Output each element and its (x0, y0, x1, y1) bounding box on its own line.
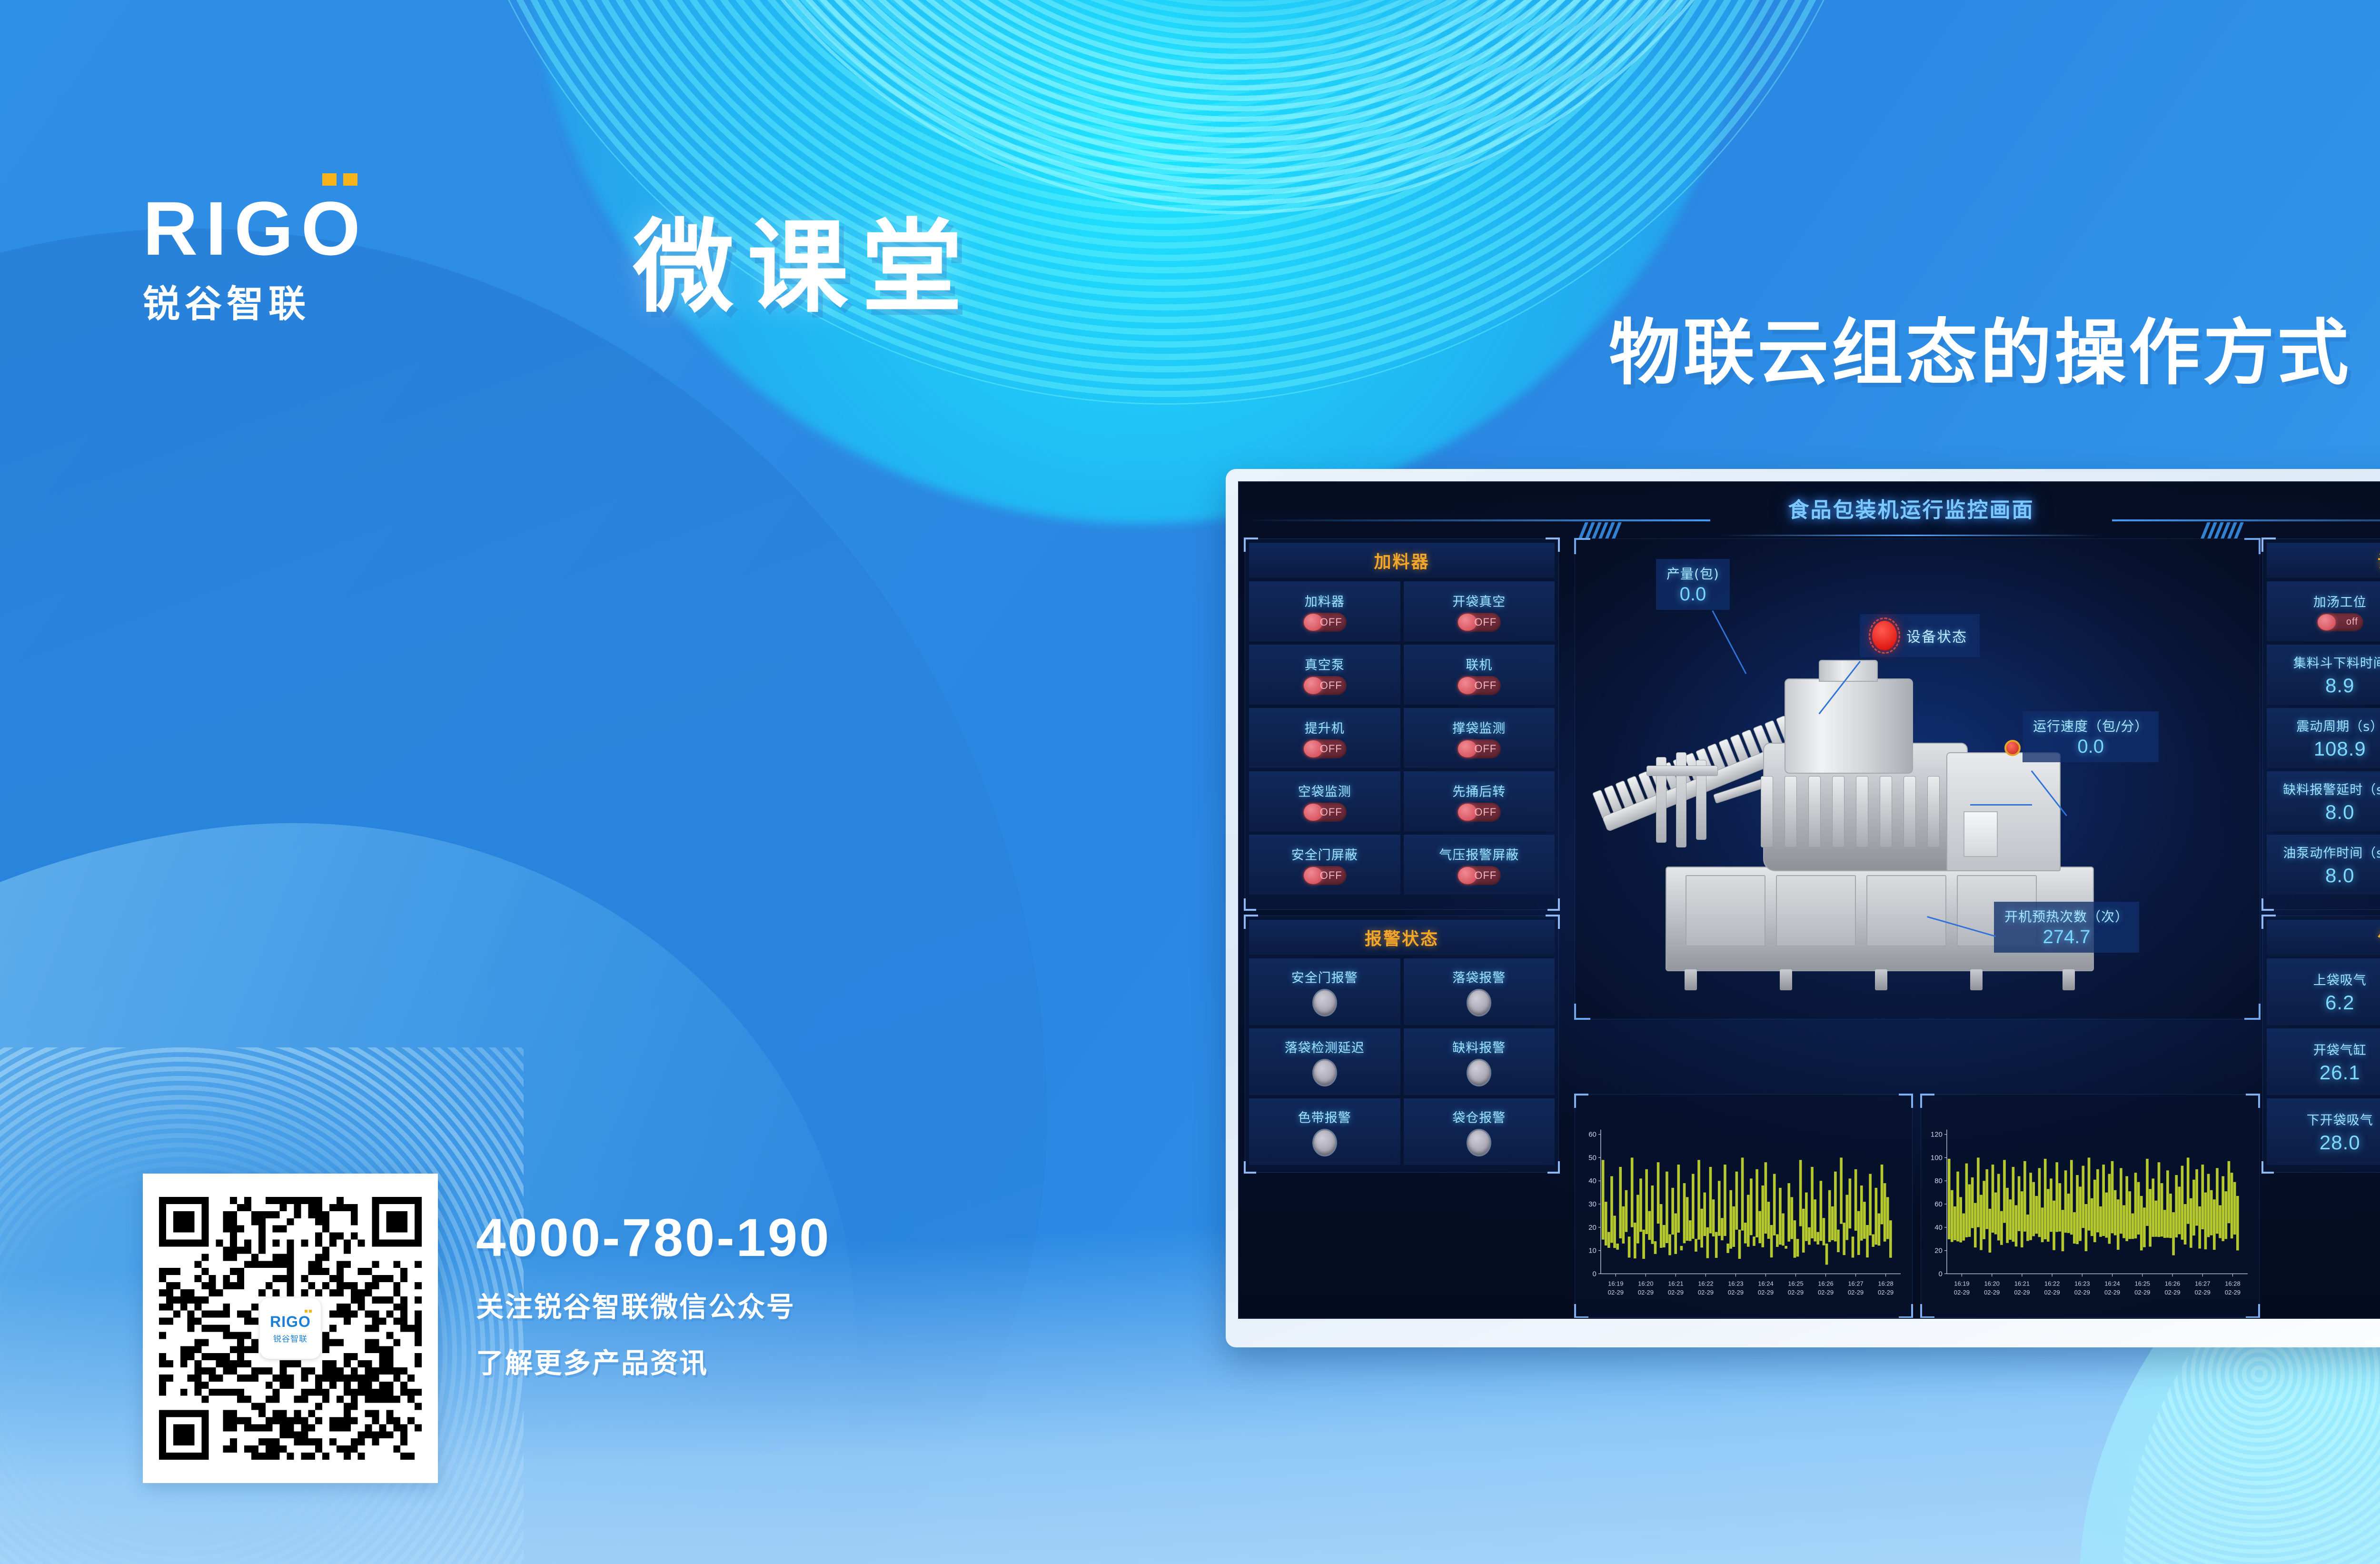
device-value-0: 8.9 (2325, 674, 2354, 697)
alarm-cell-4[interactable]: 色带报警 (1249, 1098, 1400, 1165)
svg-text:16:26: 16:26 (2165, 1280, 2180, 1287)
svg-text:02-29: 02-29 (1638, 1289, 1654, 1296)
svg-text:02-29: 02-29 (1788, 1289, 1804, 1296)
device-params-panel: 设备参数 加汤工位 off 停机点 off 集料斗下料时间 8.9 集料斗输出时… (2262, 538, 2380, 910)
alarm-label-3: 缺料报警 (1452, 1037, 1506, 1056)
alarm-cell-0[interactable]: 安全门报警 (1249, 958, 1400, 1025)
cylinder-params-grid: 上袋吸气 6.2 上袋气缸 93.9 开袋气缸 26.1 上开袋吸气 0.0 下… (2263, 955, 2380, 1169)
screen-header: 食品包装机运行监控画面 (1239, 482, 2380, 534)
cylinder-value-4: 28.0 (2320, 1131, 2360, 1154)
cylinder-params-panel: 气缸参数 上袋吸气 6.2 上袋气缸 93.9 开袋气缸 26.1 上开袋吸气 … (2262, 916, 2380, 1173)
svg-text:50: 50 (1588, 1154, 1597, 1162)
alarm-panel: 报警状态 安全门报警 落袋报警 落袋检测延迟 缺料报警 (1245, 916, 1559, 1173)
svg-text:02-29: 02-29 (2225, 1289, 2241, 1296)
svg-text:02-29: 02-29 (1984, 1289, 2000, 1296)
feeder-cell-7[interactable]: 先捅后转 OFF (1404, 771, 1555, 831)
header-underline (1720, 535, 2102, 536)
device-value-label-2: 震动周期（s） (2296, 716, 2380, 735)
feeder-toggle-state-6: OFF (1320, 806, 1342, 818)
svg-text:02-29: 02-29 (1668, 1289, 1684, 1296)
svg-text:02-29: 02-29 (1954, 1289, 1970, 1296)
cylinder-value-0: 6.2 (2325, 991, 2354, 1014)
device-value-4: 8.0 (2325, 801, 2354, 824)
rigo-wordmark: RIGO (143, 190, 368, 267)
svg-text:40: 40 (1588, 1177, 1597, 1185)
cylinder-cell-0[interactable]: 上袋吸气 6.2 (2267, 958, 2380, 1025)
trend-chart-left[interactable]: 010203040506016:1902-2916:2002-2916:2102… (1575, 1094, 1913, 1318)
rigo-logo: RIGO (143, 190, 368, 267)
alarm-cell-5[interactable]: 袋仓报警 (1404, 1098, 1555, 1165)
rigo-chinese-name: 锐谷智联 (143, 274, 368, 328)
trend-chart-right[interactable]: 02040608010012016:1902-2916:2002-2916:21… (1921, 1094, 2260, 1318)
svg-text:100: 100 (1931, 1154, 1943, 1162)
alarm-cell-1[interactable]: 落袋报警 (1404, 958, 1555, 1025)
feeder-label-5: 撑袋监测 (1452, 718, 1506, 737)
alarm-cell-3[interactable]: 缺料报警 (1404, 1028, 1555, 1095)
svg-text:02-29: 02-29 (1758, 1289, 1774, 1296)
svg-text:02-29: 02-29 (2074, 1289, 2090, 1296)
svg-text:16:23: 16:23 (1728, 1280, 1743, 1287)
feeder-toggle-state-0: OFF (1320, 616, 1342, 628)
svg-text:16:19: 16:19 (1954, 1280, 1969, 1287)
svg-text:02-29: 02-29 (2014, 1289, 2030, 1296)
wechat-qr-code[interactable]: RIGO 锐谷智联 (143, 1174, 438, 1483)
contact-block: RIGO 锐谷智联 4000-780-190 关注锐谷智联微信公众号 了解更多产… (143, 1174, 831, 1483)
feeder-label-3: 联机 (1466, 655, 1492, 673)
device-toggle-0[interactable]: off (2317, 613, 2363, 631)
svg-text:02-29: 02-29 (1608, 1289, 1624, 1296)
svg-text:16:23: 16:23 (2074, 1280, 2090, 1287)
svg-text:20: 20 (1588, 1224, 1597, 1232)
feeder-label-6: 空袋监测 (1298, 781, 1351, 800)
svg-text:0: 0 (1593, 1270, 1597, 1278)
machine-hmi-screen (1963, 811, 1998, 857)
svg-text:02-29: 02-29 (2044, 1289, 2060, 1296)
svg-text:16:25: 16:25 (2135, 1280, 2150, 1287)
machine-legs (1685, 969, 2075, 990)
alarm-lamp-2 (1312, 1059, 1337, 1086)
qr-logo-latin: RIGO (270, 1313, 311, 1331)
toggle-knob (2318, 614, 2336, 630)
svg-text:02-29: 02-29 (1728, 1289, 1744, 1296)
device-value-label-4: 缺料报警延时（s） (2283, 779, 2380, 798)
machine-feeder-arm (1646, 724, 1775, 847)
device-value-6: 8.0 (2325, 864, 2354, 887)
feeder-toggle-state-3: OFF (1474, 679, 1497, 692)
feeder-label-1: 开袋真空 (1452, 591, 1506, 610)
center-display-panel: 产量(包) 0.0 设备状态 运行速度（包/分） 0.0 开机预热次数（次） 2… (1575, 538, 2260, 1019)
alarm-label-5: 袋仓报警 (1452, 1107, 1506, 1126)
hmi-monitor-bezel: 食品包装机运行监控画面 加料器 加料器 OFF 开袋真空 OFF 真 (1226, 469, 2380, 1347)
alarm-lamp-5 (1467, 1129, 1491, 1156)
cylinder-label-4: 下开袋吸气 (2307, 1110, 2373, 1128)
device-value-cell-4[interactable]: 缺料报警延时（s） 8.0 (2267, 771, 2380, 831)
speed-label: 运行速度（包/分） (2033, 716, 2148, 735)
feeder-toggle-state-2: OFF (1320, 679, 1342, 692)
svg-text:60: 60 (1934, 1200, 1943, 1208)
alarm-grid: 安全门报警 落袋报警 落袋检测延迟 缺料报警 色带报警 (1245, 955, 1558, 1169)
contact-line-1: 关注锐谷智联微信公众号 (476, 1285, 831, 1325)
feeder-cell-9[interactable]: 气压报警屏蔽 OFF (1404, 835, 1555, 895)
svg-text:60: 60 (1588, 1131, 1597, 1139)
feeder-toggle-state-5: OFF (1474, 743, 1497, 755)
qr-center-logo: RIGO 锐谷智联 (260, 1298, 321, 1359)
alarm-label-4: 色带报警 (1298, 1107, 1351, 1126)
svg-text:0: 0 (1939, 1270, 1943, 1278)
device-value-label-0: 集料斗下料时间 (2293, 653, 2380, 671)
feeder-panel-title: 加料器 (1249, 543, 1555, 578)
feeder-label-9: 气压报警屏蔽 (1439, 845, 1519, 863)
svg-text:16:25: 16:25 (1788, 1280, 1803, 1287)
feeder-cell-3[interactable]: 联机 OFF (1404, 645, 1555, 705)
svg-text:16:22: 16:22 (1698, 1280, 1713, 1287)
speed-callout: 运行速度（包/分） 0.0 (2023, 711, 2159, 762)
preheat-value: 274.7 (2004, 926, 2129, 948)
qr-logo-cn: 锐谷智联 (273, 1332, 307, 1344)
cylinder-cell-2[interactable]: 开袋气缸 26.1 (2267, 1028, 2380, 1095)
feeder-toggle-0[interactable]: OFF (1303, 613, 1347, 632)
svg-text:02-29: 02-29 (1848, 1289, 1864, 1296)
svg-text:30: 30 (1588, 1200, 1597, 1208)
device-toggle-label-0: 加汤工位 (2313, 592, 2367, 610)
machine-control-cabinet (1946, 752, 2061, 871)
page-title: 物联云组态的操作方式 (1609, 295, 2351, 398)
feeder-label-0: 加料器 (1305, 591, 1345, 610)
screen-title: 食品包装机运行监控画面 (1239, 493, 2380, 523)
svg-text:02-29: 02-29 (2195, 1289, 2211, 1296)
feeder-toggle-2[interactable]: OFF (1303, 676, 1347, 695)
svg-text:16:19: 16:19 (1608, 1280, 1623, 1287)
alarm-label-1: 落袋报警 (1452, 967, 1506, 986)
svg-text:16:22: 16:22 (2044, 1280, 2060, 1287)
alarm-label-2: 落袋检测延迟 (1285, 1037, 1365, 1056)
alarm-panel-title: 报警状态 (1249, 920, 1555, 955)
svg-text:16:27: 16:27 (2195, 1280, 2210, 1287)
device-toggle-cell-0[interactable]: 加汤工位 off (2267, 581, 2380, 641)
svg-text:16:20: 16:20 (1638, 1280, 1653, 1287)
svg-text:16:21: 16:21 (1668, 1280, 1683, 1287)
feeder-toggle-state-7: OFF (1474, 806, 1497, 818)
brand-block: RIGO 锐谷智联 微课堂 (143, 190, 368, 328)
feeder-cell-6[interactable]: 空袋监测 OFF (1249, 771, 1400, 831)
emergency-stop-icon (2004, 740, 2021, 756)
umlaut-icon (322, 173, 357, 186)
feeder-toggle-state-8: OFF (1320, 869, 1342, 882)
contact-text: 4000-780-190 关注锐谷智联微信公众号 了解更多产品资讯 (476, 1174, 831, 1381)
feeder-toggle-6[interactable]: OFF (1303, 803, 1347, 822)
speed-value: 0.0 (2033, 736, 2148, 757)
svg-text:02-29: 02-29 (2164, 1289, 2180, 1296)
feeder-panel: 加料器 加料器 OFF 开袋真空 OFF 真空泵 OFF 联机 OFF (1245, 538, 1559, 910)
feeder-grid: 加料器 OFF 开袋真空 OFF 真空泵 OFF 联机 OFF 提升机 OF (1245, 578, 1558, 898)
svg-text:02-29: 02-29 (2104, 1289, 2120, 1296)
feeder-toggle-8[interactable]: OFF (1303, 866, 1347, 885)
feeder-cell-4[interactable]: 提升机 OFF (1249, 708, 1400, 768)
device-params-grid: 加汤工位 off 停机点 off 集料斗下料时间 8.9 集料斗输出时间 40.… (2263, 578, 2380, 898)
series-title: 微课堂 (633, 186, 976, 332)
svg-text:16:21: 16:21 (2014, 1280, 2030, 1287)
cylinder-label-0: 上袋吸气 (2313, 970, 2367, 988)
feeder-cell-2[interactable]: 真空泵 OFF (1249, 645, 1400, 705)
feeder-toggle-3[interactable]: OFF (1457, 676, 1501, 695)
device-value-cell-0[interactable]: 集料斗下料时间 8.9 (2267, 645, 2380, 705)
machine-grippers (1761, 767, 1970, 847)
svg-text:16:26: 16:26 (1818, 1280, 1833, 1287)
hotline-number: 4000-780-190 (476, 1207, 831, 1268)
device-value-cell-6[interactable]: 油泵动作时间（s） 8.0 (2267, 835, 2380, 895)
svg-text:02-29: 02-29 (1698, 1289, 1714, 1296)
svg-text:20: 20 (1934, 1247, 1943, 1255)
device-value-label-6: 油泵动作时间（s） (2283, 843, 2380, 861)
speed-leader-line-b (1970, 804, 2032, 806)
feeder-cell-5[interactable]: 撑袋监测 OFF (1404, 708, 1555, 768)
feeder-toggle-state-4: OFF (1320, 743, 1342, 755)
feeder-label-4: 提升机 (1305, 718, 1345, 737)
output-callout: 产量(包) 0.0 (1656, 559, 1730, 610)
device-status-indicator-icon (1872, 621, 1897, 650)
alarm-cell-2[interactable]: 落袋检测延迟 (1249, 1028, 1400, 1095)
svg-text:02-29: 02-29 (1818, 1289, 1834, 1296)
trend-left-svg: 010203040506016:1902-2916:2002-2916:2102… (1575, 1095, 1912, 1317)
feeder-toggle-state-1: OFF (1474, 616, 1497, 628)
alarm-label-0: 安全门报警 (1291, 967, 1358, 986)
alarm-lamp-4 (1312, 1129, 1337, 1156)
svg-text:16:28: 16:28 (2225, 1280, 2240, 1287)
cylinder-cell-4[interactable]: 下开袋吸气 28.0 (2267, 1098, 2380, 1165)
device-status-callout: 设备状态 (1860, 614, 1980, 657)
svg-text:40: 40 (1934, 1224, 1943, 1232)
feeder-cell-0[interactable]: 加料器 OFF (1249, 581, 1400, 641)
svg-text:16:24: 16:24 (2104, 1280, 2120, 1287)
header-slash-right-icon (2204, 522, 2241, 538)
feeder-label-7: 先捅后转 (1452, 781, 1506, 800)
svg-text:10: 10 (1588, 1247, 1597, 1255)
svg-text:120: 120 (1931, 1131, 1943, 1139)
feeder-toggle-7[interactable]: OFF (1457, 803, 1501, 822)
feeder-label-8: 安全门屏蔽 (1291, 845, 1358, 863)
cylinder-params-title: 气缸参数 (2267, 920, 2380, 955)
svg-text:16:28: 16:28 (1878, 1280, 1893, 1287)
preheat-callout: 开机预热次数（次） 274.7 (1994, 902, 2139, 953)
preheat-label: 开机预热次数（次） (2004, 907, 2129, 926)
machine-drum (1785, 678, 1913, 774)
device-params-title: 设备参数 (2267, 543, 2380, 578)
feeder-cell-1[interactable]: 开袋真空 OFF (1404, 581, 1555, 641)
svg-text:02-29: 02-29 (1878, 1289, 1894, 1296)
header-line-left (1253, 519, 1710, 521)
feeder-label-2: 真空泵 (1305, 655, 1345, 673)
feeder-toggle-9[interactable]: OFF (1457, 866, 1501, 885)
cylinder-label-2: 开袋气缸 (2313, 1040, 2367, 1058)
header-slash-left-icon (1582, 522, 1618, 538)
qr-logo-latin-text: RIGO (270, 1313, 311, 1330)
output-label: 产量(包) (1666, 564, 1719, 583)
hmi-screen: 食品包装机运行监控画面 加料器 加料器 OFF 开袋真空 OFF 真 (1238, 481, 2380, 1319)
header-line-right (2112, 519, 2380, 521)
feeder-toggle-5[interactable]: OFF (1457, 739, 1501, 758)
alarm-lamp-0 (1312, 989, 1337, 1016)
svg-text:02-29: 02-29 (2134, 1289, 2150, 1296)
feeder-toggle-4[interactable]: OFF (1303, 739, 1347, 758)
device-value-cell-2[interactable]: 震动周期（s） 108.9 (2267, 708, 2380, 768)
svg-text:16:24: 16:24 (1758, 1280, 1773, 1287)
alarm-lamp-3 (1467, 1059, 1491, 1086)
device-value-2: 108.9 (2314, 737, 2366, 760)
output-value: 0.0 (1666, 584, 1719, 605)
cylinder-value-2: 26.1 (2320, 1061, 2360, 1084)
svg-text:80: 80 (1934, 1177, 1943, 1185)
device-status-label: 设备状态 (1906, 625, 1967, 646)
svg-text:16:27: 16:27 (1848, 1280, 1863, 1287)
alarm-lamp-1 (1467, 989, 1491, 1016)
contact-line-2: 了解更多产品资讯 (476, 1341, 831, 1381)
svg-text:16:20: 16:20 (1984, 1280, 1999, 1287)
device-toggle-state-0: off (2346, 617, 2358, 628)
feeder-cell-8[interactable]: 安全门屏蔽 OFF (1249, 835, 1400, 895)
feeder-toggle-state-9: OFF (1474, 869, 1497, 882)
machine-drum-cap (1819, 660, 1878, 682)
feeder-toggle-1[interactable]: OFF (1457, 613, 1501, 632)
trend-right-svg: 02040608010012016:1902-2916:2002-2916:21… (1921, 1095, 2259, 1317)
